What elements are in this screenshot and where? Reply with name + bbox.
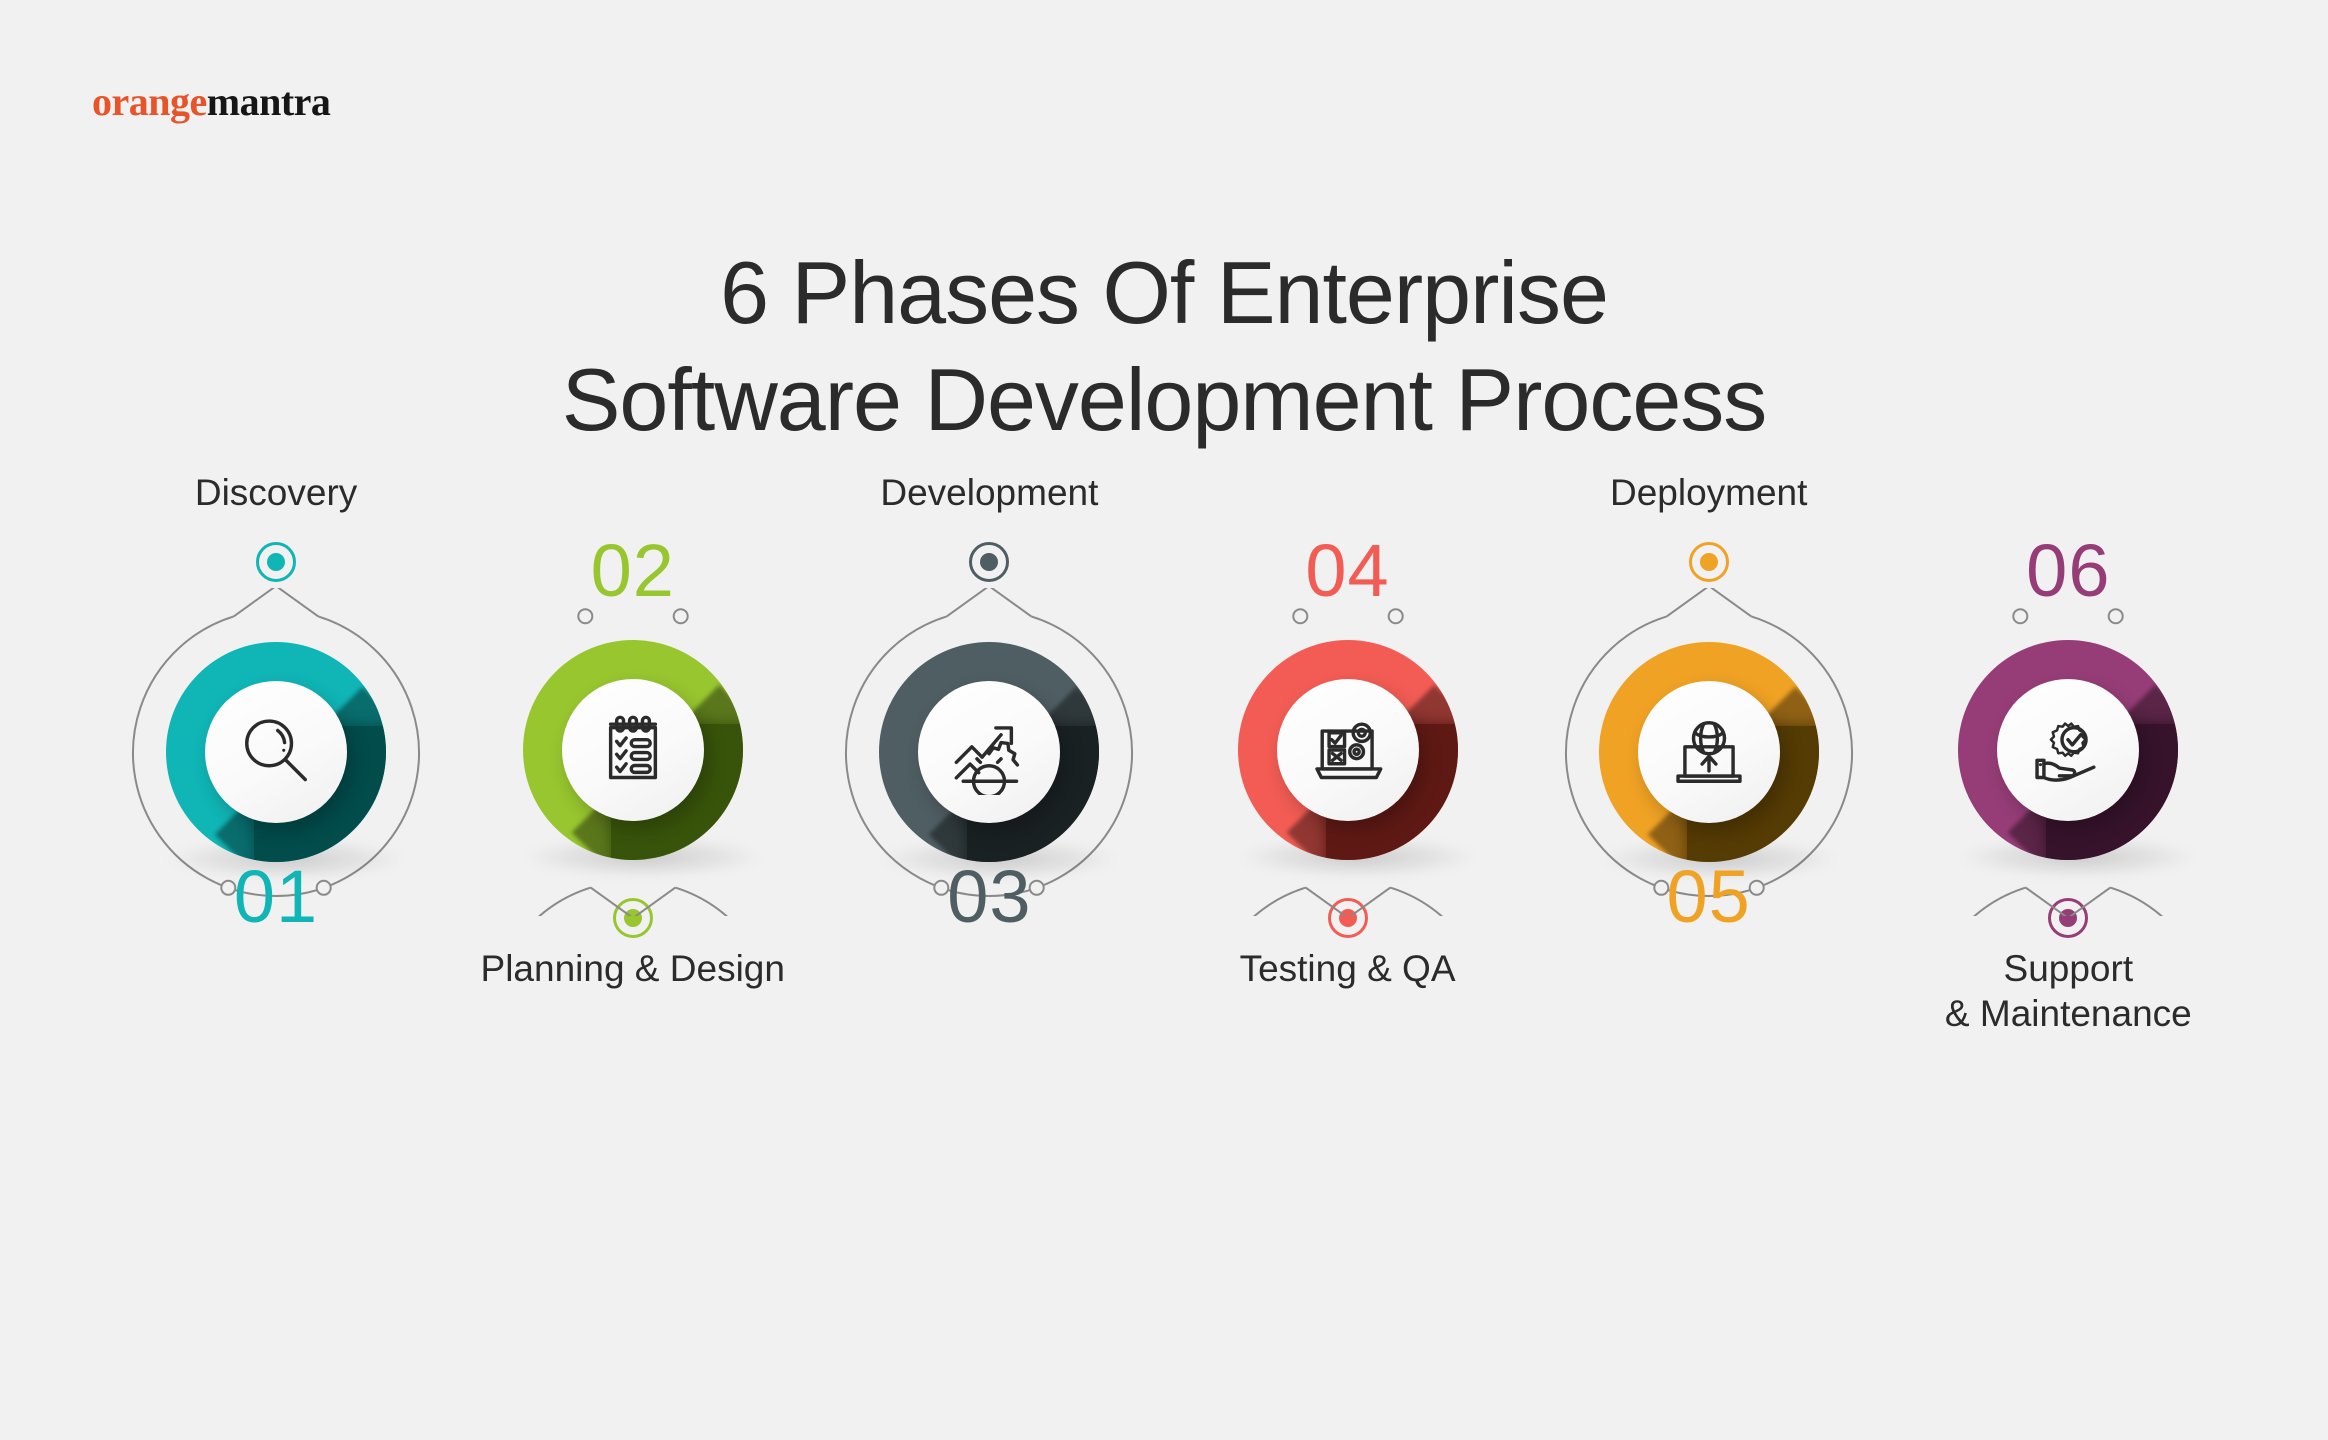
phase-label: Development — [880, 470, 1098, 515]
phase-donut — [1958, 640, 2178, 860]
phase-label: Deployment — [1610, 470, 1807, 515]
phase-icon-disc — [1997, 679, 2139, 821]
phase-label: Testing & QA — [1240, 946, 1456, 991]
phase-card-04[interactable]: Testing & QA 04 — [1183, 650, 1513, 1440]
phase-donut — [1599, 642, 1819, 862]
logo-text-mantra: mantra — [207, 79, 331, 124]
phase-number: 02 — [591, 534, 675, 608]
phase-card-05[interactable]: Deployment 05 — [1544, 470, 1874, 1260]
phase-label: Discovery — [195, 470, 357, 515]
magnifier-icon — [233, 709, 319, 795]
phase-icon-disc — [918, 681, 1060, 823]
phase-label: Support& Maintenance — [1945, 946, 2192, 1036]
phase-card-03[interactable]: Development 03 — [824, 470, 1154, 1260]
phase-donut — [879, 642, 1099, 862]
laptop-test-gears-icon — [1305, 707, 1391, 793]
phase-icon-disc — [562, 679, 704, 821]
phase-marker-dot — [256, 542, 296, 582]
page-title: 6 Phases Of Enterprise Software Developm… — [0, 239, 2328, 454]
phase-number: 04 — [1305, 534, 1389, 608]
phase-card-01[interactable]: Discovery 01 — [111, 470, 441, 1260]
phase-donut — [523, 640, 743, 860]
phase-icon-disc — [205, 681, 347, 823]
phase-marker-dot — [969, 542, 1009, 582]
phase-label: Planning & Design — [481, 946, 785, 991]
phase-label-line1: Planning & Design — [481, 948, 785, 989]
phase-label-line1: Discovery — [195, 472, 357, 513]
brand-logo: orangemantra — [92, 78, 330, 125]
phase-number: 01 — [234, 860, 318, 934]
phase-marker-dot — [1689, 542, 1729, 582]
phase-number: 03 — [947, 860, 1031, 934]
phase-label-line1: Support — [2004, 948, 2134, 989]
globe-laptop-upload-icon — [1666, 709, 1752, 795]
phase-donut — [1238, 640, 1458, 860]
hand-gear-check-icon — [2025, 707, 2111, 793]
phase-label-line2: & Maintenance — [1945, 991, 2192, 1036]
phase-number: 06 — [2026, 534, 2110, 608]
phase-card-06[interactable]: Support& Maintenance 06 — [1903, 650, 2233, 1440]
phase-diagram: Discovery 01 Planning & Design — [0, 470, 2328, 1260]
title-line-2: Software Development Process — [0, 346, 2328, 453]
title-line-1: 6 Phases Of Enterprise — [720, 243, 1608, 342]
phase-number: 05 — [1667, 860, 1751, 934]
phase-label-line1: Testing & QA — [1240, 948, 1456, 989]
phase-card-02[interactable]: Planning & Design 02 — [468, 650, 798, 1440]
checklist-notepad-icon — [590, 707, 676, 793]
phase-label-line1: Development — [880, 472, 1098, 513]
phase-donut — [166, 642, 386, 862]
phase-icon-disc — [1638, 681, 1780, 823]
phase-label-line1: Deployment — [1610, 472, 1807, 513]
growth-gear-icon — [946, 709, 1032, 795]
logo-text-orange: orange — [92, 79, 207, 124]
phase-icon-disc — [1277, 679, 1419, 821]
